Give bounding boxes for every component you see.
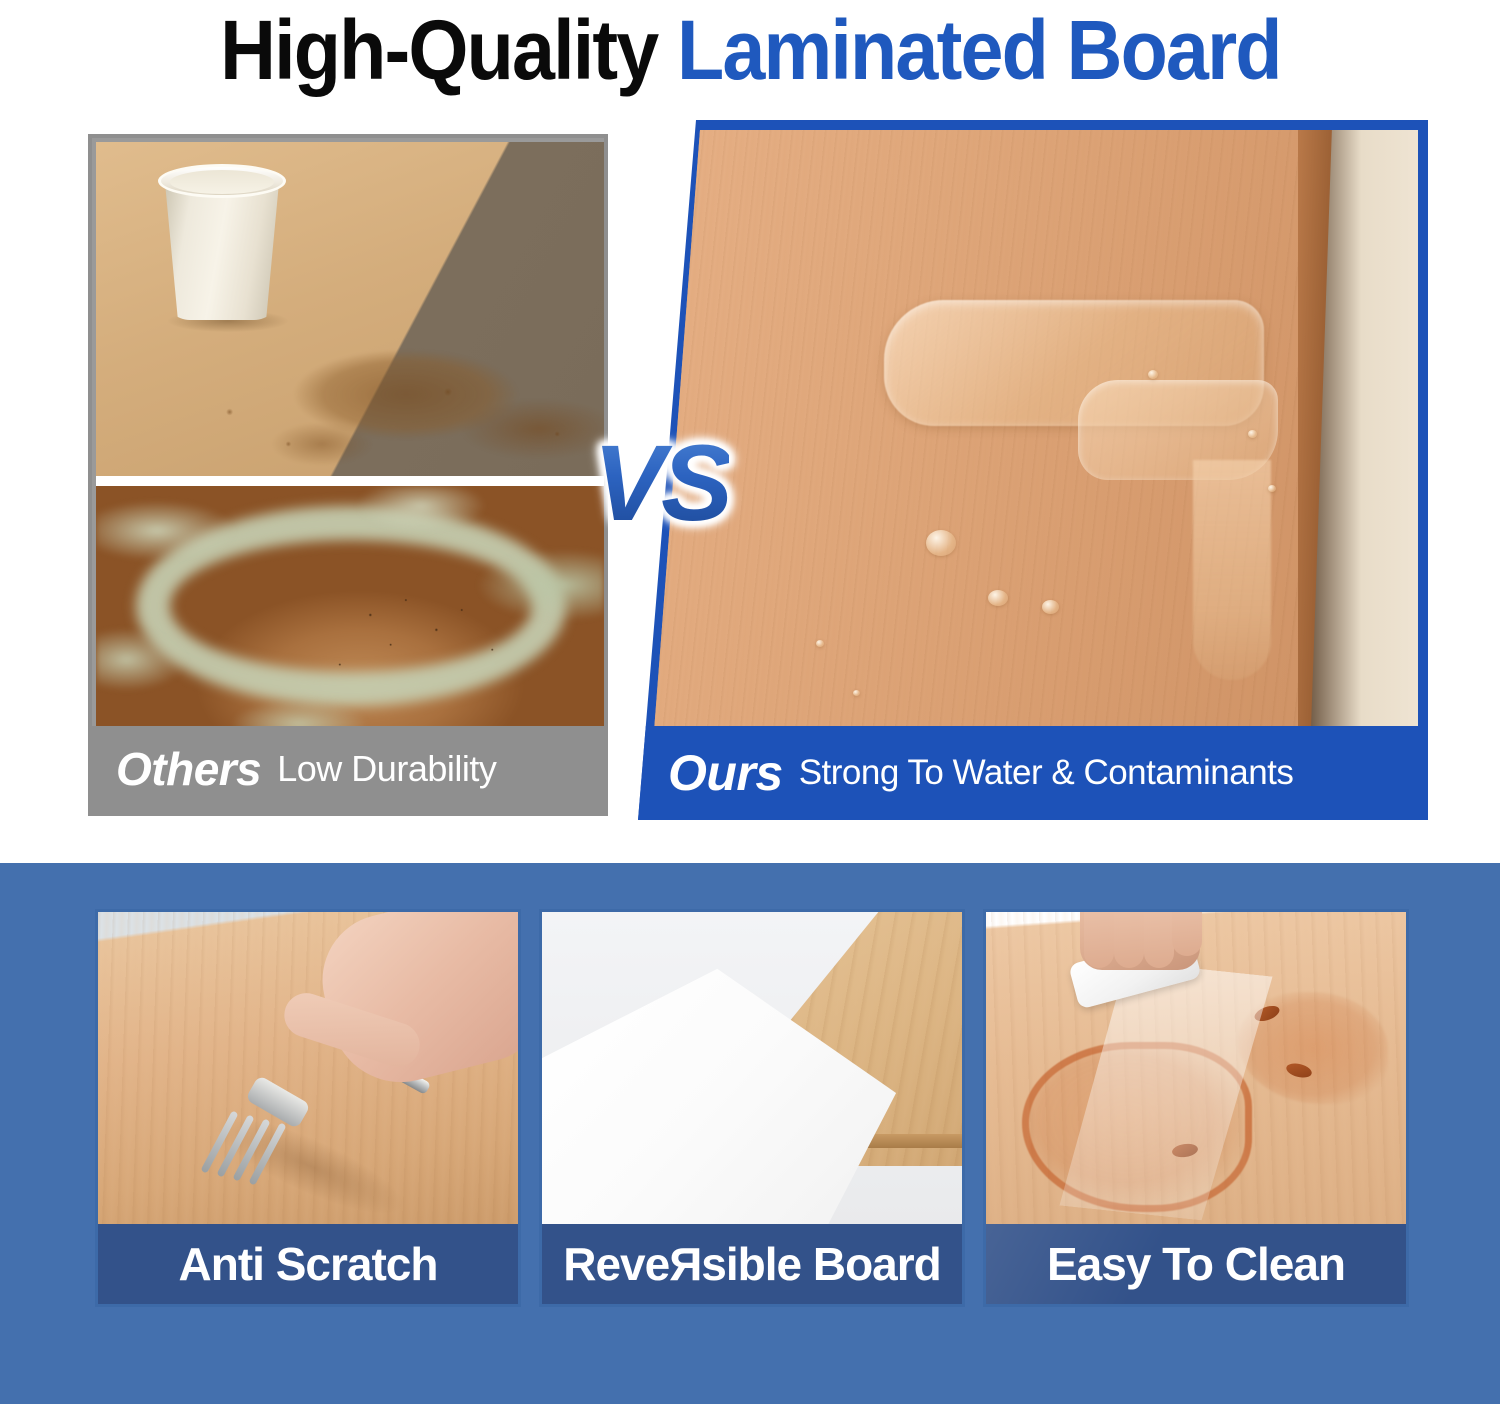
water-droplet [926,530,956,556]
title-part-dark: High-Quality [220,3,657,97]
water-droplet [1042,600,1059,614]
ours-title: Ours [668,744,783,802]
water-droplet [853,690,860,696]
feature-card-reversible: ReveЯsible Board [539,909,965,1307]
feature-card-easy-clean: Easy To Clean [983,909,1409,1307]
page-title: High-Quality Laminated Board [0,0,1500,100]
finger [1114,912,1144,968]
finger [1172,912,1202,956]
ours-photo-water [648,130,1418,810]
others-photo-spill [96,142,604,476]
ours-caption: Ours Strong To Water & Contaminants [638,726,1428,820]
feature-card-anti-scratch: Anti Scratch [95,909,521,1307]
water-drip-over-edge [1193,460,1271,680]
ours-subtitle: Strong To Water & Contaminants [799,753,1294,793]
others-caption: Others Low Durability [92,726,608,812]
others-panel: Others Low Durability [88,134,608,816]
feature-label: ReveЯsible Board [542,1224,962,1304]
vs-badge: VS [593,420,729,545]
photo-divider [96,476,604,486]
water-droplet [816,640,824,647]
product-infographic: High-Quality Laminated Board [0,0,1500,1404]
finger [1084,912,1114,968]
feature-label: Easy To Clean [986,1224,1406,1304]
others-title: Others [116,742,261,796]
water-droplet [988,590,1008,606]
ours-panel: Ours Strong To Water & Contaminants [638,120,1428,820]
feature-photo-reversible-board [542,912,962,1230]
water-droplet [1248,430,1257,438]
spill-droplets [196,372,604,472]
others-photo-mold [96,486,604,734]
finger [1144,912,1174,968]
feature-photo-fork-scratch [98,912,518,1230]
mold-specks [96,486,604,734]
comparison-section: Others Low Durability [88,120,1428,820]
cup-inner [170,170,274,194]
feature-photo-wipe-stain [986,912,1406,1230]
title-part-blue: Laminated Board [677,3,1281,97]
features-section: Anti Scratch ReveЯsible Board [0,863,1500,1404]
feature-row: Anti Scratch ReveЯsible Board [95,909,1411,1307]
water-droplet [1148,370,1158,379]
others-subtitle: Low Durability [277,748,496,790]
water-droplet [1268,485,1276,492]
feature-label: Anti Scratch [98,1224,518,1304]
